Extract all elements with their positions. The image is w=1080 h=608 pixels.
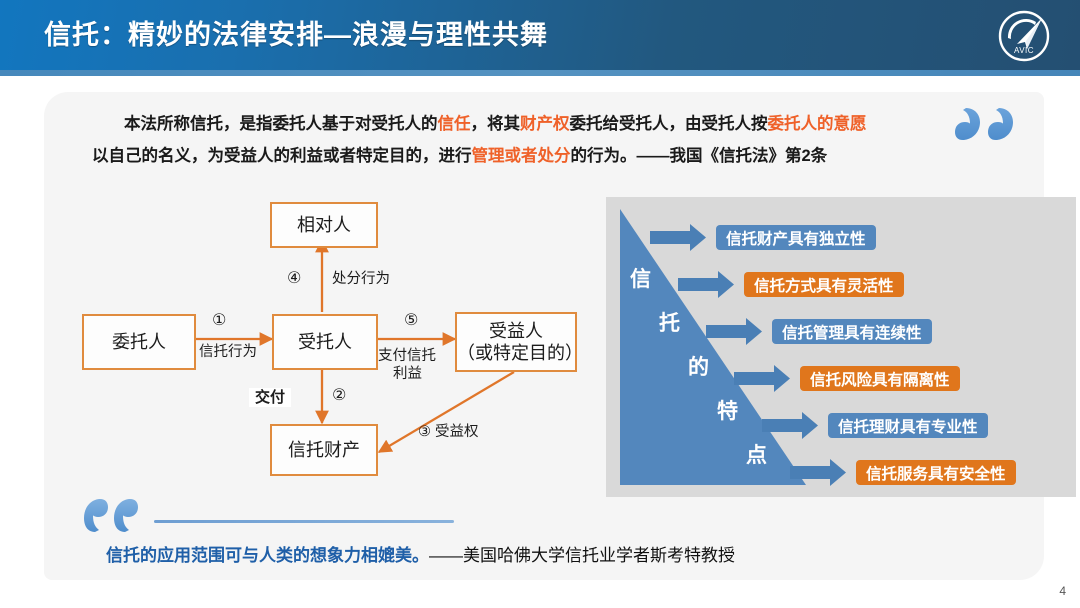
triangle-shape: [620, 209, 806, 485]
flow-label-4-number: ④: [287, 270, 301, 287]
bottom-quote-bold: 信托的应用范围可与人类的想象力相媲美。: [106, 546, 429, 565]
law-text-highlight-3: 委托人的意愿: [768, 115, 867, 133]
flow-box-beneficiary-label-line2: （或特定目的）: [457, 342, 575, 364]
content-card: 本法所称信托，是指委托人基于对受托人的信任，将其财产权委托给受托人，由受托人按委…: [44, 92, 1044, 580]
flow-box-trustee: 受托人: [272, 314, 378, 370]
flow-box-beneficiary-label-line1: 受益人: [489, 320, 543, 342]
flow-box-trust-property-label: 信托财产: [288, 440, 360, 461]
feature-item-3: 信托管理具有连续性: [772, 319, 932, 344]
feature-item-2: 信托方式具有灵活性: [744, 272, 904, 297]
law-text-seg-1: 本法所称信托，是指委托人基于对受托人的: [124, 115, 438, 133]
law-text-highlight-4: 管理或者处分: [472, 147, 571, 165]
law-text-highlight-1: 信任: [438, 115, 471, 133]
bottom-quote-text: 信托的应用范围可与人类的想象力相媲美。——美国哈佛大学信托业学者斯考特教授: [106, 544, 735, 568]
slide-header: 信托：精妙的法律安排—浪漫与理性共舞 AVIC: [0, 0, 1080, 70]
flow-box-beneficiary: 受益人 （或特定目的）: [455, 312, 577, 372]
law-text-seg-5: 的行为。——我国《信托法》第2条: [571, 147, 828, 165]
flow-box-counterparty-label: 相对人: [297, 215, 351, 236]
flow-box-counterparty: 相对人: [270, 202, 378, 248]
avic-logo-icon: AVIC: [996, 8, 1052, 64]
bottom-quote-rule: [154, 520, 454, 523]
flow-label-5-number: ⑤: [404, 312, 418, 329]
trust-flow-diagram: 相对人 委托人 受托人 受益人 （或特定目的） 信托财产 ① 信托行为 ② 交付…: [44, 192, 574, 492]
law-quote-text: 本法所称信托，是指委托人基于对受托人的信任，将其财产权委托给受托人，由受托人按委…: [92, 108, 972, 172]
page-title: 信托：精妙的法律安排—浪漫与理性共舞: [44, 14, 548, 56]
flow-box-settlor: 委托人: [82, 314, 196, 370]
trust-features-panel: 信 托 的 特 点 信托财产具有独立性 信托方式具有灵活性 信托管理具有连续性 …: [606, 197, 1076, 497]
law-text-highlight-2: 财产权: [520, 115, 570, 133]
flow-label-4-text: 处分行为: [332, 271, 390, 288]
flow-label-2-text: 交付: [249, 388, 291, 407]
header-underline: [0, 70, 1080, 76]
flow-label-5-text-line1: 支付信托: [378, 348, 436, 365]
slide: 信托：精妙的法律安排—浪漫与理性共舞 AVIC 本法所称信托，是指委托人基于对受…: [0, 0, 1080, 608]
feature-item-5: 信托理财具有专业性: [828, 413, 988, 438]
law-text-seg-4: 以自己的名义，为受益人的利益或者特定目的，进行: [92, 147, 472, 165]
flow-box-trustee-label: 受托人: [298, 332, 352, 353]
law-text-seg-3: 委托给受托人，由受托人按: [570, 115, 768, 133]
law-text-seg-2: ，将其: [471, 115, 521, 133]
quote-marks-icon: [954, 106, 1016, 146]
flow-label-1-number: ①: [212, 312, 226, 329]
flow-box-trust-property: 信托财产: [270, 424, 378, 476]
triangle-char-1: 信: [630, 269, 651, 290]
bottom-quote-attribution: ——美国哈佛大学信托业学者斯考特教授: [429, 546, 735, 565]
feature-item-4: 信托风险具有隔离性: [800, 366, 960, 391]
flow-label-1-text: 信托行为: [199, 344, 257, 361]
open-quote-marks-icon: [84, 496, 140, 534]
avic-logo-text: AVIC: [1014, 46, 1034, 55]
triangle-char-5: 点: [746, 445, 767, 466]
flow-label-5-text-line2: 利益: [393, 366, 422, 383]
triangle-char-4: 特: [717, 401, 738, 422]
page-number: 4: [1059, 584, 1066, 598]
feature-item-1: 信托财产具有独立性: [716, 225, 876, 250]
flow-label-3: ③ 受益权: [418, 424, 479, 441]
triangle-char-2: 托: [659, 313, 680, 334]
feature-item-6: 信托服务具有安全性: [856, 460, 1016, 485]
triangle-char-3: 的: [688, 357, 709, 378]
flow-box-settlor-label: 委托人: [112, 332, 166, 353]
flow-label-2-number: ②: [332, 387, 346, 404]
